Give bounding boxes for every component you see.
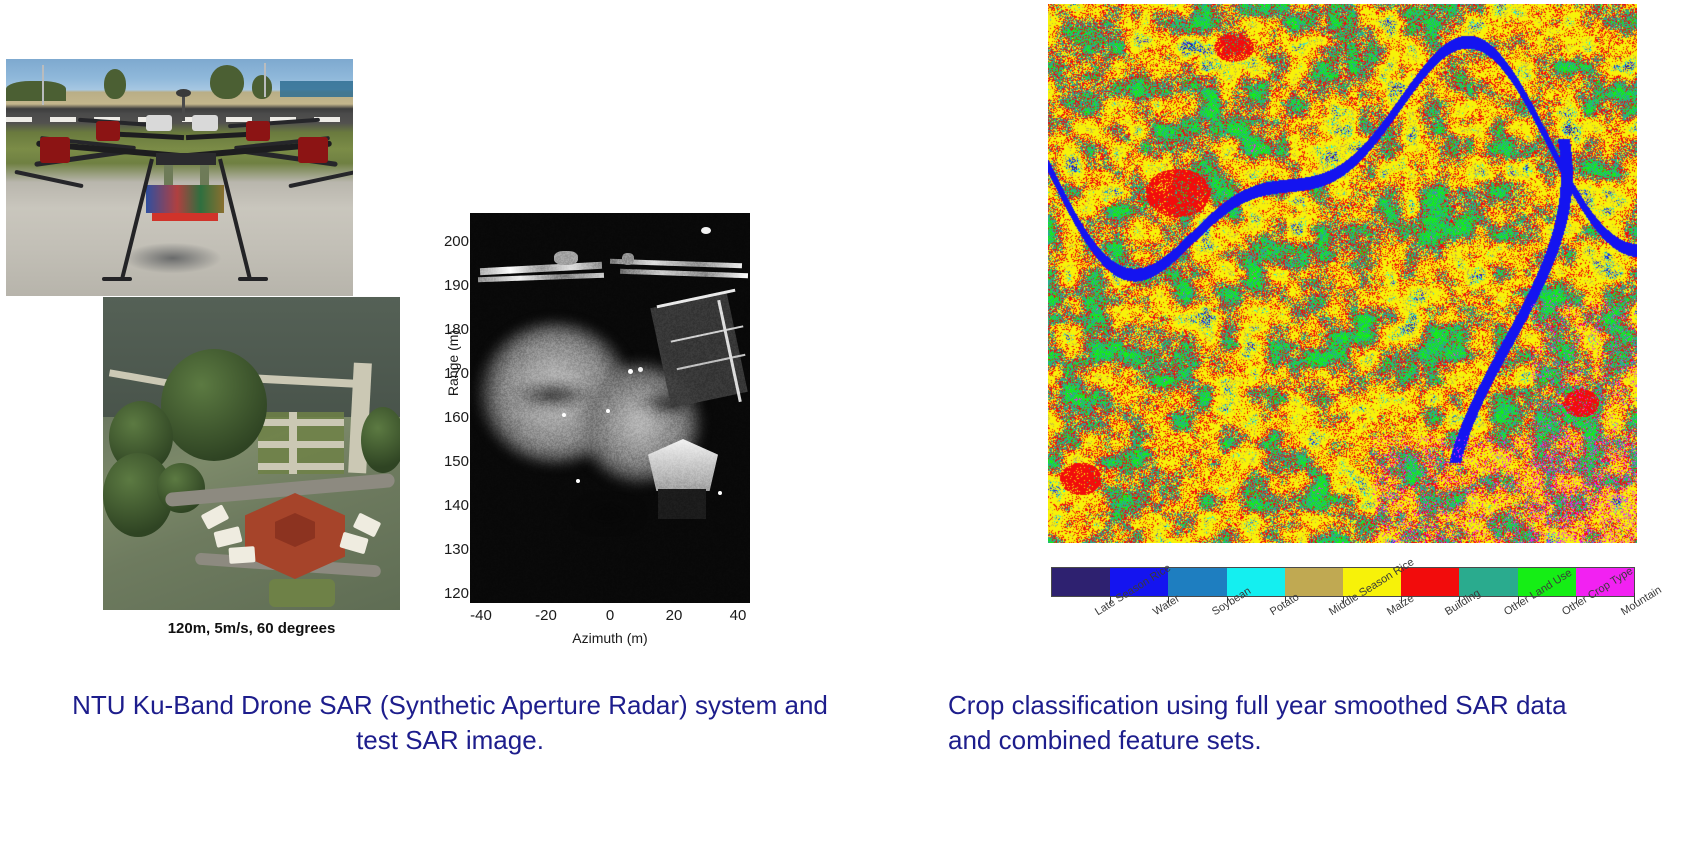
pole: [264, 63, 266, 97]
sar-electronics: [146, 185, 224, 213]
pole: [42, 65, 44, 105]
crop-classification-map: [1048, 4, 1637, 543]
sar-figure: 200 190 180 170 160 150 140 130 120 Rang…: [415, 205, 760, 660]
garden-path: [289, 412, 297, 474]
left-caption: NTU Ku-Band Drone SAR (Synthetic Apertur…: [60, 688, 840, 758]
gps-antenna: [176, 89, 191, 97]
tree: [210, 65, 244, 99]
tree: [6, 81, 66, 101]
landing-leg: [218, 159, 251, 278]
sar-xtick: 0: [590, 607, 630, 624]
sar-ytick: 140: [429, 497, 469, 514]
canopy-tent: [228, 546, 255, 564]
lawn-area: [269, 579, 335, 607]
canopy-tent: [213, 526, 242, 548]
sar-ytick: 130: [429, 541, 469, 558]
sar-xtick: -40: [461, 607, 501, 624]
sar-image: [470, 213, 750, 603]
legend-swatch: [1168, 568, 1226, 596]
road-marking: [50, 117, 76, 122]
flight-parameters-label: 120m, 5m/s, 60 degrees: [103, 620, 400, 637]
sar-ytick: 190: [429, 277, 469, 294]
road-marking: [6, 117, 32, 122]
tree-canopy: [361, 407, 400, 473]
canopy-tent: [353, 513, 382, 538]
landing-leg-foot: [238, 277, 268, 281]
motor: [246, 121, 270, 141]
sar-x-axis-label: Azimuth (m): [470, 630, 750, 646]
garden-path: [258, 419, 344, 426]
propeller-blade: [288, 170, 355, 188]
payload-frame: [156, 153, 216, 165]
gps-mast: [182, 95, 185, 121]
aerial-photo: [103, 297, 400, 610]
motor: [192, 115, 218, 131]
sar-electronics-base: [152, 213, 218, 221]
landing-leg: [121, 159, 154, 278]
motor: [40, 137, 70, 163]
sar-xtick: -20: [526, 607, 566, 624]
landing-leg-foot: [102, 277, 132, 281]
sar-y-axis-label: Range (m): [445, 303, 461, 423]
canopy-tent: [201, 504, 230, 529]
garden-path: [258, 463, 344, 470]
garden-path: [258, 441, 344, 448]
propeller-blade: [14, 170, 83, 188]
drone-photo: [4, 57, 355, 298]
building-far: [280, 81, 354, 97]
sar-speckle-layer: [470, 213, 750, 603]
motor: [96, 121, 120, 141]
right-caption-line1: Crop classification using full year smoo…: [948, 690, 1509, 720]
motor: [146, 115, 172, 131]
legend-swatch: [1052, 568, 1110, 596]
crop-map-canvas: [1048, 4, 1637, 543]
sar-ytick: 120: [429, 585, 469, 602]
tree-canopy: [161, 349, 267, 461]
tree: [252, 75, 272, 99]
sar-ytick: 200: [429, 233, 469, 250]
left-caption-line1: NTU Ku-Band Drone SAR (Synthetic Apertur…: [72, 690, 688, 720]
crop-legend: Late Season RiceWaterSoybeanPotatoMiddle…: [1051, 567, 1635, 597]
sar-xtick: 40: [718, 607, 758, 624]
right-caption: Crop classification using full year smoo…: [948, 688, 1568, 758]
motor: [298, 137, 328, 163]
sar-ytick: 150: [429, 453, 469, 470]
sar-xtick: 20: [654, 607, 694, 624]
tree: [104, 69, 126, 99]
